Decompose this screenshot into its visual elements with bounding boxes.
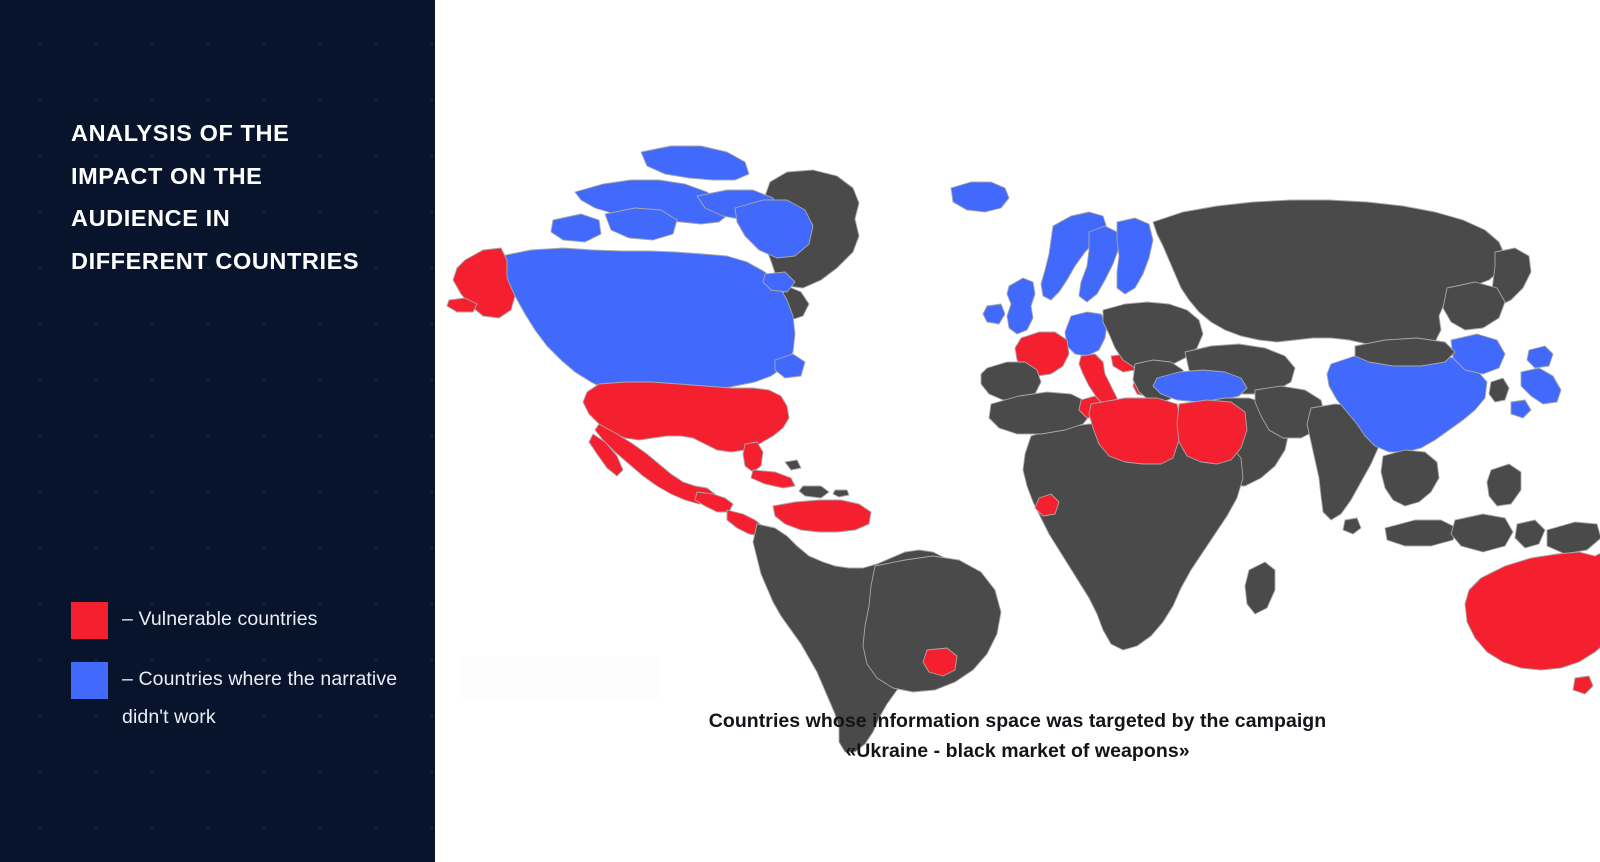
legend-swatch-red xyxy=(71,602,108,639)
page-title-line-1: ANALYSIS OF THE xyxy=(71,112,416,155)
legend-swatch-blue xyxy=(71,662,108,699)
page-title-line-4: DIFFERENT COUNTRIES xyxy=(71,240,416,283)
map-caption: Countries whose information space was ta… xyxy=(435,706,1600,766)
map-caption-line-2: «Ukraine - black market of weapons» xyxy=(435,736,1600,766)
legend-item-vulnerable: – Vulnerable countries xyxy=(71,600,421,639)
legend-item-resistant: – Countries where the narrative didn't w… xyxy=(71,660,421,736)
page-title-line-2: IMPACT ON THE xyxy=(71,155,416,198)
slide-root: ANALYSIS OF THE IMPACT ON THE AUDIENCE I… xyxy=(0,0,1600,862)
page-title-line-3: AUDIENCE IN xyxy=(71,197,416,240)
page-title: ANALYSIS OF THE IMPACT ON THE AUDIENCE I… xyxy=(71,112,416,282)
legend-label-vulnerable: – Vulnerable countries xyxy=(122,600,318,638)
legend-label-resistant: – Countries where the narrative didn't w… xyxy=(122,660,421,736)
left-info-panel: ANALYSIS OF THE IMPACT ON THE AUDIENCE I… xyxy=(0,0,435,862)
map-caption-line-1: Countries whose information space was ta… xyxy=(435,706,1600,736)
map-panel: Countries whose information space was ta… xyxy=(435,0,1600,862)
map-legend: – Vulnerable countries – Countries where… xyxy=(71,600,421,757)
